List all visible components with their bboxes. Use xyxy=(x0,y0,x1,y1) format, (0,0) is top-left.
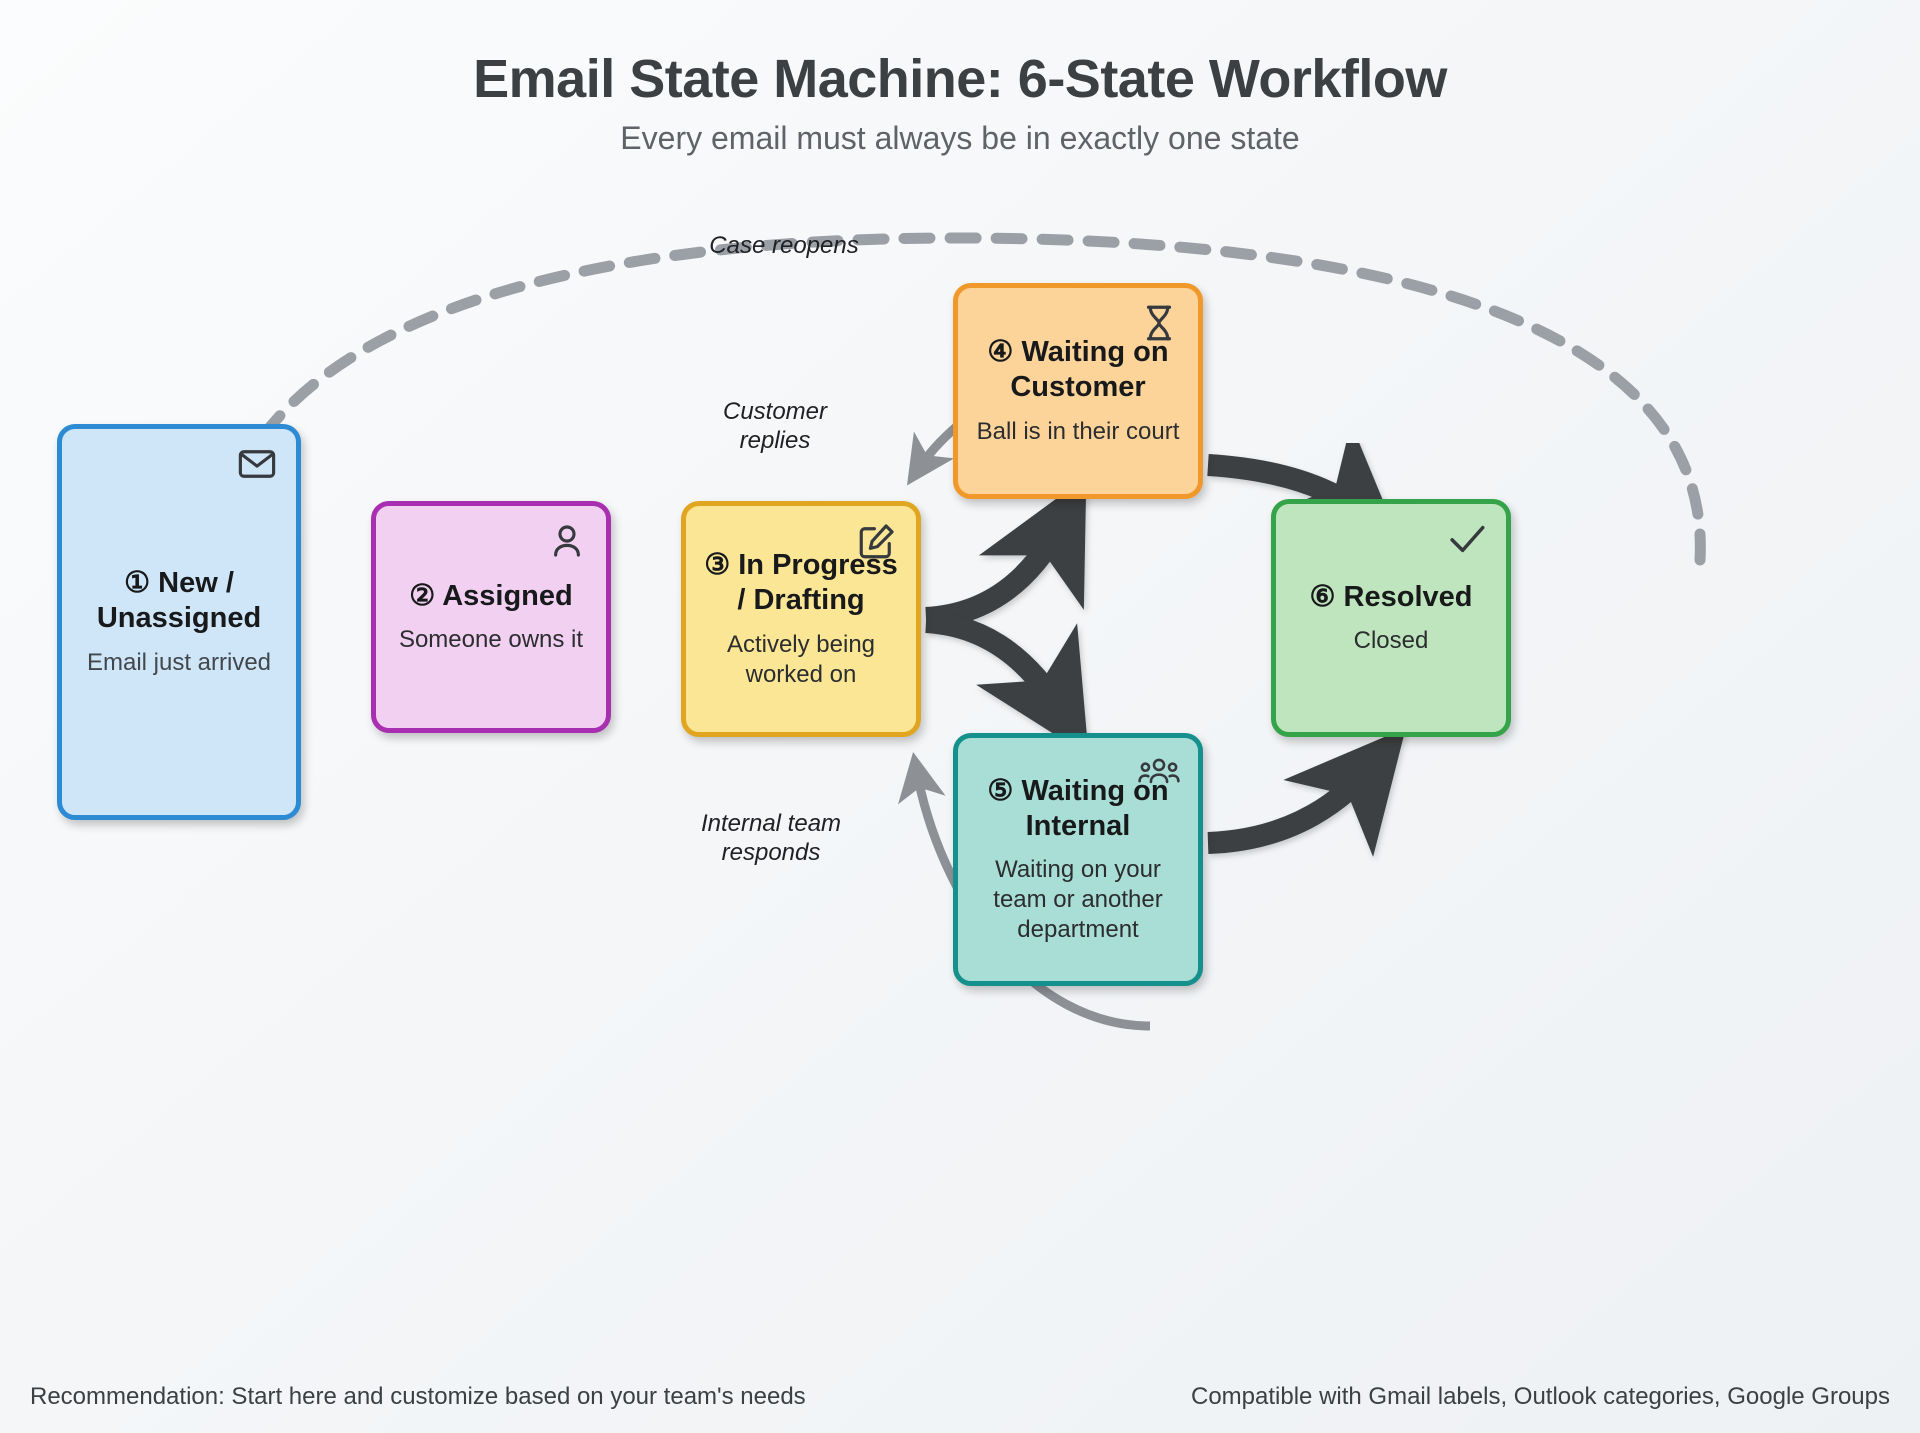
state-node-assigned[interactable]: ② Assigned Someone owns it xyxy=(371,501,611,733)
state-description: Actively being worked on xyxy=(727,630,875,690)
state-node-waiting-on-internal[interactable]: ⑤ Waiting on Internal Waiting on your te… xyxy=(953,733,1203,986)
arrow-progress-to-waiting-customer xyxy=(926,512,1068,618)
state-description: Ball is in their court xyxy=(977,417,1180,447)
state-node-waiting-on-customer[interactable]: ④ Waiting on Customer Ball is in their c… xyxy=(953,283,1203,499)
state-node-in-progress-drafting[interactable]: ③ In Progress / Drafting Actively being … xyxy=(681,501,921,737)
state-description: Someone owns it xyxy=(399,625,583,655)
state-description: Waiting on your team or another departme… xyxy=(993,855,1162,945)
state-title: ④ Waiting on Customer xyxy=(987,335,1168,405)
page-title: Email State Machine: 6-State Workflow xyxy=(0,48,1920,110)
person-icon xyxy=(546,520,588,562)
edge-label-customer-replies: Customer replies xyxy=(660,398,890,456)
edge-label-internal-team-responds: Internal team responds xyxy=(636,810,906,868)
state-node-new-unassigned[interactable]: ① New / Unassigned Email just arrived xyxy=(57,424,301,820)
page-subtitle: Every email must always be in exactly on… xyxy=(0,120,1920,157)
state-node-resolved[interactable]: ⑥ Resolved Closed xyxy=(1271,499,1511,737)
state-description: Closed xyxy=(1354,626,1429,656)
footer-compatibility: Compatible with Gmail labels, Outlook ca… xyxy=(1191,1383,1890,1411)
state-title: ① New / Unassigned xyxy=(97,566,261,636)
checkmark-icon xyxy=(1446,518,1488,560)
arrow-waiting-internal-to-resolved xyxy=(1208,758,1380,843)
envelope-icon xyxy=(236,443,278,485)
state-title: ② Assigned xyxy=(409,579,573,614)
edge-label-case-reopens: Case reopens xyxy=(654,232,914,261)
pencil-edit-icon xyxy=(856,520,898,562)
diagram-canvas: Email State Machine: 6-State Workflow Ev… xyxy=(0,0,1920,1433)
state-description: Email just arrived xyxy=(87,648,271,678)
hourglass-icon xyxy=(1138,302,1180,344)
arrow-progress-to-waiting-internal xyxy=(926,622,1068,722)
people-group-icon xyxy=(1138,752,1180,794)
state-title: ⑥ Resolved xyxy=(1310,580,1473,615)
footer-recommendation: Recommendation: Start here and customize… xyxy=(30,1383,806,1411)
